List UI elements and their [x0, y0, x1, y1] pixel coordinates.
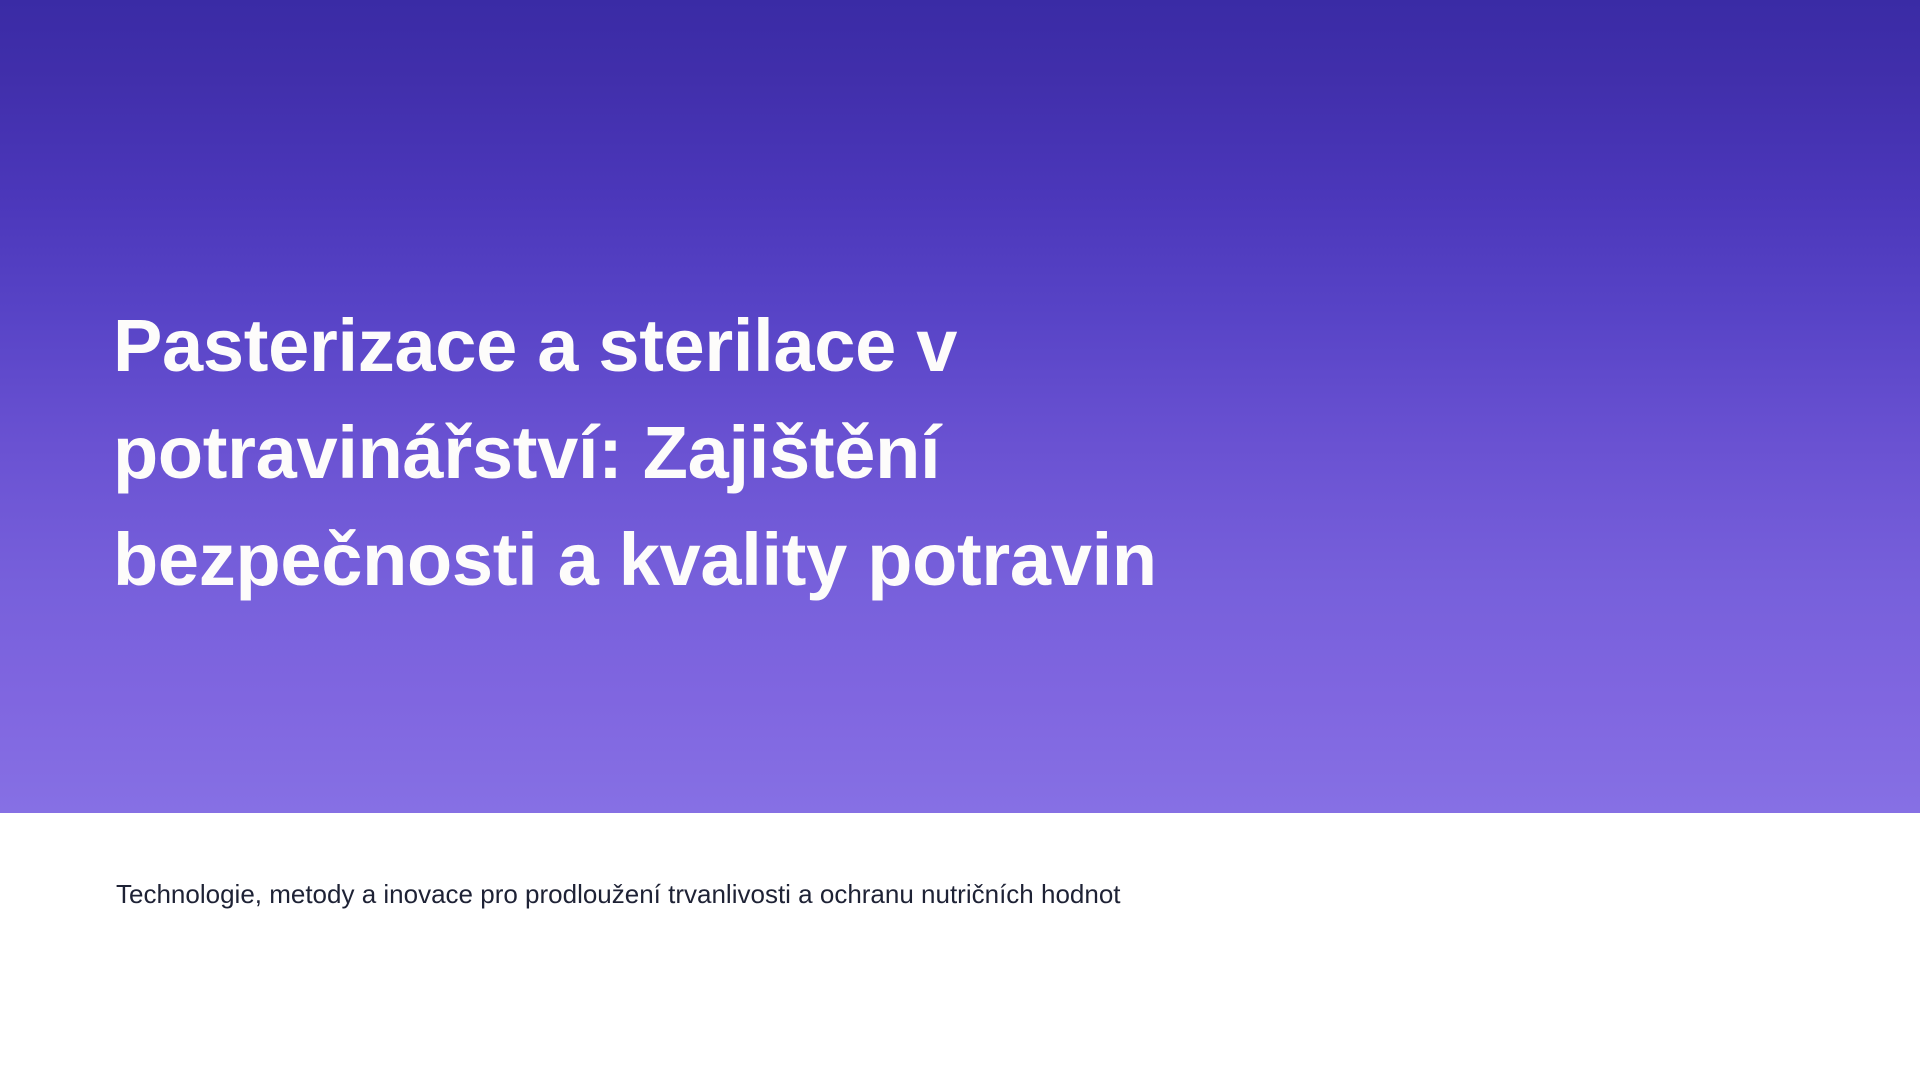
title-slide: Pasterizace a sterilace v potravinářství…	[0, 0, 1920, 1080]
slide-title: Pasterizace a sterilace v potravinářství…	[113, 292, 1293, 613]
slide-subtitle: Technologie, metody a inovace pro prodlo…	[116, 875, 1216, 914]
title-block: Pasterizace a sterilace v potravinářství…	[113, 292, 1293, 613]
subtitle-block: Technologie, metody a inovace pro prodlo…	[116, 875, 1216, 914]
